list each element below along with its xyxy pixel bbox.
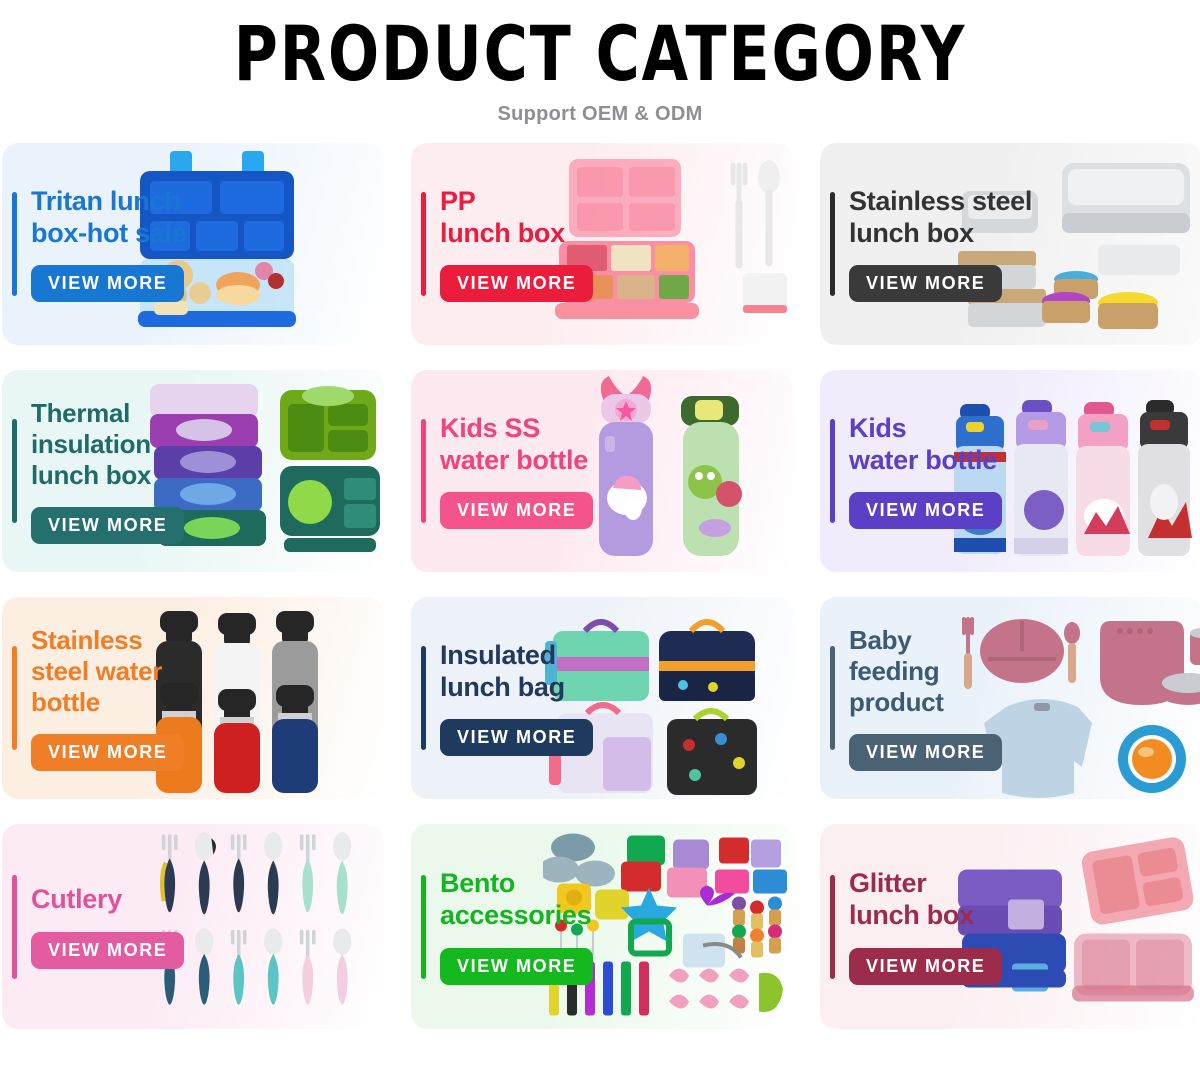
- card-content: Stainless steel water bottleVIEW MORE: [31, 597, 261, 799]
- page-subtitle: Support OEM & ODM: [0, 103, 1200, 126]
- card-content: Insulated lunch bagVIEW MORE: [440, 597, 670, 799]
- view-more-button[interactable]: VIEW MORE: [440, 265, 593, 302]
- view-more-button[interactable]: VIEW MORE: [31, 932, 184, 969]
- view-more-button[interactable]: VIEW MORE: [849, 265, 1002, 302]
- card-content: Baby feeding productVIEW MORE: [849, 597, 1079, 799]
- card-content: Bento accessoriesVIEW MORE: [440, 824, 670, 1029]
- view-more-button[interactable]: VIEW MORE: [849, 492, 1002, 529]
- page-header: PRODUCT CATEGORY Support OEM & ODM: [0, 0, 1200, 126]
- card-accent-bar: [421, 419, 426, 523]
- card-accent-bar: [830, 875, 835, 979]
- card-title: Glitter lunch box: [849, 868, 1079, 932]
- category-card[interactable]: Bento accessoriesVIEW MORE: [411, 824, 793, 1029]
- card-title: Stainless steel lunch box: [849, 186, 1079, 250]
- category-card[interactable]: Baby feeding productVIEW MORE: [820, 597, 1200, 799]
- card-accent-bar: [830, 192, 835, 296]
- card-title: Tritan lunch box-hot sale: [31, 186, 261, 250]
- card-content: Tritan lunch box-hot saleVIEW MORE: [31, 143, 261, 345]
- card-accent-bar: [830, 646, 835, 750]
- category-card[interactable]: PP lunch boxVIEW MORE: [411, 143, 793, 345]
- card-accent-bar: [421, 875, 426, 979]
- category-card[interactable]: Tritan lunch box-hot saleVIEW MORE: [2, 143, 384, 345]
- view-more-button[interactable]: VIEW MORE: [440, 948, 593, 985]
- card-content: Thermal insulation lunch boxVIEW MORE: [31, 370, 261, 572]
- view-more-button[interactable]: VIEW MORE: [440, 719, 593, 756]
- category-card[interactable]: CutleryVIEW MORE: [2, 824, 384, 1029]
- view-more-button[interactable]: VIEW MORE: [849, 948, 1002, 985]
- card-accent-bar: [421, 192, 426, 296]
- card-content: Stainless steel lunch boxVIEW MORE: [849, 143, 1079, 345]
- card-title: Baby feeding product: [849, 625, 1079, 717]
- view-more-button[interactable]: VIEW MORE: [440, 492, 593, 529]
- view-more-button[interactable]: VIEW MORE: [31, 734, 184, 771]
- card-content: Glitter lunch boxVIEW MORE: [849, 824, 1079, 1029]
- card-accent-bar: [12, 192, 17, 296]
- category-card[interactable]: Glitter lunch boxVIEW MORE: [820, 824, 1200, 1029]
- card-content: CutleryVIEW MORE: [31, 824, 261, 1029]
- card-title: Stainless steel water bottle: [31, 625, 261, 717]
- category-card[interactable]: Stainless steel water bottleVIEW MORE: [2, 597, 384, 799]
- card-title: PP lunch box: [440, 186, 670, 250]
- card-title: Cutlery: [31, 884, 261, 916]
- page-title: PRODUCT CATEGORY: [18, 14, 1182, 93]
- category-card[interactable]: Kids SS water bottleVIEW MORE: [411, 370, 793, 572]
- card-title: Kids SS water bottle: [440, 413, 670, 477]
- card-title: Kids water bottle: [849, 413, 1079, 477]
- card-accent-bar: [12, 419, 17, 523]
- category-card[interactable]: Kids water bottleVIEW MORE: [820, 370, 1200, 572]
- category-card[interactable]: Thermal insulation lunch boxVIEW MORE: [2, 370, 384, 572]
- card-title: Bento accessories: [440, 868, 670, 932]
- card-content: PP lunch boxVIEW MORE: [440, 143, 670, 345]
- card-accent-bar: [830, 419, 835, 523]
- view-more-button[interactable]: VIEW MORE: [31, 507, 184, 544]
- card-content: Kids water bottleVIEW MORE: [849, 370, 1079, 572]
- category-grid: Tritan lunch box-hot saleVIEW MORE: [0, 143, 1200, 1029]
- card-accent-bar: [12, 875, 17, 979]
- card-accent-bar: [421, 646, 426, 750]
- view-more-button[interactable]: VIEW MORE: [849, 734, 1002, 771]
- category-card[interactable]: Stainless steel lunch boxVIEW MORE: [820, 143, 1200, 345]
- card-content: Kids SS water bottleVIEW MORE: [440, 370, 670, 572]
- view-more-button[interactable]: VIEW MORE: [31, 265, 184, 302]
- card-title: Insulated lunch bag: [440, 640, 670, 704]
- card-title: Thermal insulation lunch box: [31, 398, 261, 490]
- product-category-page: PRODUCT CATEGORY Support OEM & ODM: [0, 0, 1200, 1066]
- card-accent-bar: [12, 646, 17, 750]
- category-card[interactable]: Insulated lunch bagVIEW MORE: [411, 597, 793, 799]
